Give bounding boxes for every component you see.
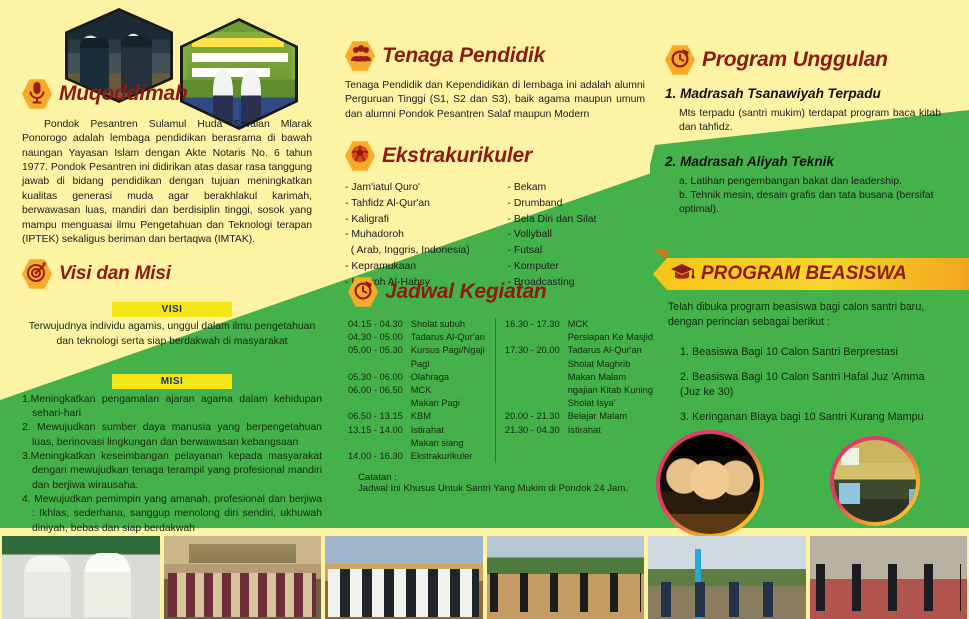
strip-photo-penyerahan-piagam [2, 536, 160, 619]
jadwal-table: 04.15 - 04.30 04.30 - 05.00 05.00 - 05.3… [348, 318, 658, 463]
visi-misi-header: Visi dan Misi [22, 258, 322, 290]
target-icon [22, 258, 52, 290]
program-unggulan-heading: 2. Madrasah Aliyah Teknik [665, 154, 960, 169]
misi-item: 3.Meningkatkan keseimbangan pelayanan ke… [22, 450, 322, 493]
misi-label: MISI [112, 374, 232, 389]
ekstrakurikuler-header: Ekstrakurikuler [345, 140, 650, 172]
section-program-beasiswa: Telah dibuka program beasiswa bagi calon… [668, 300, 958, 425]
time-cell [505, 331, 560, 344]
people-group-icon [345, 40, 375, 72]
activity-cell: Tadarus Al-Qur'an [411, 331, 485, 344]
strip-photo-pertandingan-voli [648, 536, 806, 619]
program-unggulan-title: Program Unggulan [702, 48, 888, 72]
section-program-unggulan: Program Unggulan 1. Madrasah Tsanawiyah … [665, 44, 960, 218]
muqoddimah-text: Pondok Pesantren Sulamul Huda Siwalan Ml… [22, 118, 312, 247]
list-item: - Bekam [508, 180, 651, 196]
time-cell: 20.00 - 21.30 [505, 410, 560, 423]
misi-item: 2. Mewujudkan sumber daya manusia yang b… [22, 421, 322, 450]
activity-cell: Olahraga [411, 371, 485, 384]
section-ekstrakurikuler: Ekstrakurikuler - Jam'iatul Quro' - Tahf… [345, 140, 650, 291]
time-cell [348, 437, 403, 450]
activity-cell: Tadarus Al-Qur'an [568, 344, 653, 357]
list-item: 2. Beasiswa Bagi 10 Calon Santri Hafal J… [680, 370, 958, 400]
time-cell: 14.00 - 16.30 [348, 450, 403, 463]
jadwal-note: Catatan : Jadwal Ini Khusus Untuk Santri… [358, 472, 658, 494]
muqoddimah-title: Muqoddimah [59, 82, 188, 106]
jadwal-note-text: Jadwal Ini Khusus Untuk Santri Yang Muki… [358, 483, 658, 494]
time-cell [348, 397, 403, 410]
clock-refresh-icon [665, 44, 695, 76]
soccer-ball-icon [345, 140, 375, 172]
program-unggulan-body: a. Latihan pengembangan bakat dan leader… [679, 175, 941, 218]
activity-cell: Sholat subuh [411, 318, 485, 331]
program-unggulan-item: 2. Madrasah Aliyah Teknik a. Latihan pen… [665, 154, 960, 218]
circle-photo-panggung-acara [656, 430, 764, 538]
list-item: ( Arab, Inggris, Indonesia) [345, 243, 488, 259]
time-cell [348, 358, 403, 371]
time-cell [505, 397, 560, 410]
time-cell: 06.50 - 13.15 [348, 410, 403, 423]
time-cell [505, 384, 560, 397]
muqoddimah-header: Muqoddimah [22, 78, 312, 110]
list-item: 3. Keringanan Biaya bagi 10 Santri Kuran… [680, 410, 958, 425]
jadwal-right-times: 16.30 - 17.30 17.30 - 20.00 20.00 - 21.3… [505, 318, 560, 463]
jadwal-column-right: 16.30 - 17.30 17.30 - 20.00 20.00 - 21.3… [495, 318, 653, 463]
activity-cell: Ekstrakurikuler [411, 450, 485, 463]
time-cell: 06.00 - 06.50 [348, 384, 403, 397]
jadwal-column-left: 04.15 - 04.30 04.30 - 05.00 05.00 - 05.3… [348, 318, 485, 463]
jadwal-note-label: Catatan : [358, 472, 658, 483]
visi-misi-title: Visi dan Misi [59, 263, 171, 285]
program-unggulan-body: Mts terpadu (santri mukim) terdapat prog… [679, 107, 941, 136]
misi-item: 1.Meningkatkan pengamalan ajaran agama d… [22, 393, 322, 422]
time-cell: 04.15 - 04.30 [348, 318, 403, 331]
activity-cell: Makan Malam [568, 371, 653, 384]
visi-label: VISI [112, 302, 232, 317]
time-cell [505, 358, 560, 371]
visi-text: Terwujudnya individu agamis, unggul dala… [22, 320, 322, 350]
jadwal-header: Jadwal Kegiatan [348, 276, 658, 308]
strip-photo-latihan-futsal [810, 536, 968, 619]
time-cell: 16.30 - 17.30 [505, 318, 560, 331]
list-item: 1. Beasiswa Bagi 10 Calon Santri Berpres… [680, 345, 958, 360]
jadwal-title: Jadwal Kegiatan [385, 280, 547, 304]
ekstrakurikuler-column-left: - Jam'iatul Quro' - Tahfidz Al-Qur'an - … [345, 180, 488, 291]
section-visi-misi: Visi dan Misi VISI Terwujudnya individu … [22, 258, 322, 536]
time-cell [505, 371, 560, 384]
list-item: - Kaligrafi [345, 212, 488, 228]
misi-list: 1.Meningkatkan pengamalan ajaran agama d… [22, 393, 322, 537]
list-item: - Tahfidz Al-Qur'an [345, 196, 488, 212]
program-beasiswa-title: PROGRAM BEASISWA [701, 263, 907, 285]
tenaga-pendidik-title: Tenaga Pendidik [382, 44, 545, 68]
tenaga-pendidik-header: Tenaga Pendidik [345, 40, 645, 72]
program-beasiswa-intro: Telah dibuka program beasiswa bagi calon… [668, 300, 958, 331]
activity-cell: Sholat Maghrib [568, 358, 653, 371]
activity-cell: ngajian Kitab Kuning [568, 384, 653, 397]
time-cell: 04.30 - 05.00 [348, 331, 403, 344]
time-cell: 05.30 - 06.00 [348, 371, 403, 384]
list-item: - Komputer [508, 259, 651, 275]
list-item: - Jam'iatul Quro' [345, 180, 488, 196]
list-item: - Muhadoroh [345, 227, 488, 243]
time-cell: 17.30 - 20.00 [505, 344, 560, 357]
list-item: - Drumband [508, 196, 651, 212]
program-unggulan-header: Program Unggulan [665, 44, 960, 76]
activity-cell: MCK [568, 318, 653, 331]
activity-cell: Pagi [411, 358, 485, 371]
time-cell: 21.30 - 04.30 [505, 424, 560, 437]
activity-cell: Kursus Pagi/Ngaji [411, 344, 485, 357]
activity-cell: Makan Pagi [411, 397, 485, 410]
list-item: - Bela Diri dan Silat [508, 212, 651, 228]
activity-cell: Belajar Malam [568, 410, 653, 423]
list-item: - Vollyball [508, 227, 651, 243]
time-cell: 05.00 - 05.30 [348, 344, 403, 357]
list-item: - Futsal [508, 243, 651, 259]
program-unggulan-heading: 1. Madrasah Tsanawiyah Terpadu [665, 86, 960, 101]
circle-photo-laboratorium-komputer [830, 436, 920, 526]
microphone-icon [22, 78, 52, 110]
strip-photo-kelompok-pencak-silat [325, 536, 483, 619]
program-beasiswa-ribbon: PROGRAM BEASISWA [653, 258, 969, 290]
clock-refresh-icon [348, 276, 378, 308]
jadwal-left-activities: Sholat subuh Tadarus Al-Qur'an Kursus Pa… [411, 318, 485, 463]
jadwal-right-activities: MCK Persiapan Ke Masjid Tadarus Al-Qur'a… [568, 318, 653, 463]
ekstrakurikuler-lists: - Jam'iatul Quro' - Tahfidz Al-Qur'an - … [345, 180, 650, 291]
strip-photo-latihan-silat-lapangan [487, 536, 645, 619]
tenaga-pendidik-text: Tenaga Pendidik dan Kependidikan di lemb… [345, 79, 645, 122]
list-item: - Kepramukaan [345, 259, 488, 275]
activity-cell: Istirahat [568, 424, 653, 437]
program-unggulan-item: 1. Madrasah Tsanawiyah Terpadu Mts terpa… [665, 86, 960, 136]
graduation-cap-icon [669, 261, 695, 288]
strip-photo-orientasi-pembina-pramuka [164, 536, 322, 619]
program-beasiswa-list: 1. Beasiswa Bagi 10 Calon Santri Berpres… [668, 345, 958, 425]
section-jadwal-kegiatan: Jadwal Kegiatan 04.15 - 04.30 04.30 - 05… [348, 276, 658, 494]
activity-cell: Persiapan Ke Masjid [568, 331, 653, 344]
misi-item: 4. Mewujudkan pemimpin yang amanah, prof… [22, 493, 322, 536]
jadwal-left-times: 04.15 - 04.30 04.30 - 05.00 05.00 - 05.3… [348, 318, 403, 463]
ekstrakurikuler-title: Ekstrakurikuler [382, 144, 532, 168]
section-muqoddimah: Muqoddimah Pondok Pesantren Sulamul Huda… [22, 78, 312, 247]
activity-cell: KBM [411, 410, 485, 423]
activity-cell: MCK [411, 384, 485, 397]
activity-cell: Sholat Isya' [568, 397, 653, 410]
time-cell: 13.15 - 14.00 [348, 424, 403, 437]
section-tenaga-pendidik: Tenaga Pendidik Tenaga Pendidik dan Kepe… [345, 40, 645, 122]
activity-cell: Istirahat [411, 424, 485, 437]
bottom-photo-strip [0, 536, 969, 619]
activity-cell: Makan siang [411, 437, 485, 450]
ekstrakurikuler-column-right: - Bekam - Drumband - Bela Diri dan Silat… [508, 180, 651, 291]
brochure-poster: Muqoddimah Pondok Pesantren Sulamul Huda… [0, 0, 969, 619]
